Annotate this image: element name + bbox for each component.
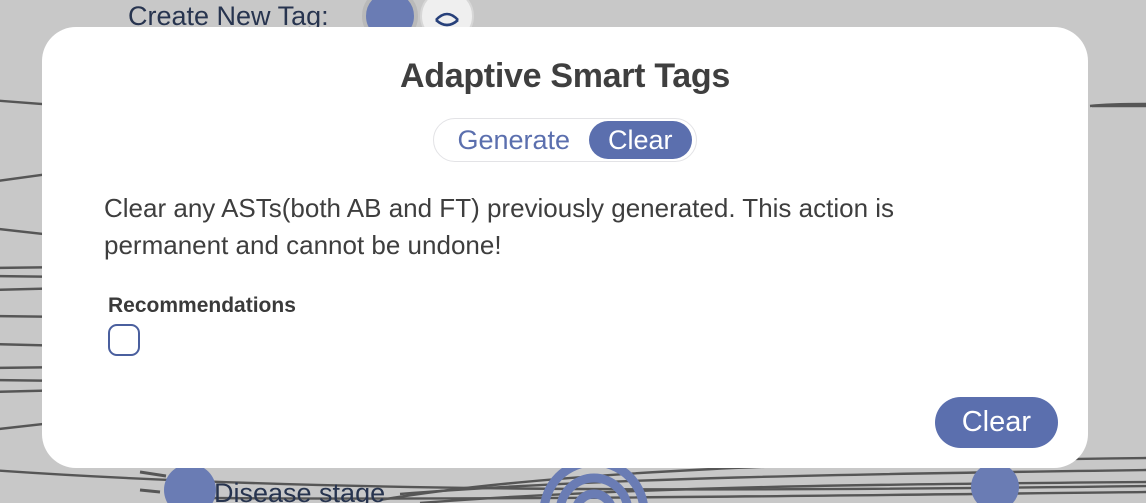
mode-segmented-control-wrapper: Generate Clear [42, 118, 1088, 162]
recommendations-checkbox[interactable] [108, 324, 140, 356]
concentric-node-icon [544, 462, 644, 503]
recommendations-section: Recommendations [108, 294, 1088, 356]
mode-segmented-control[interactable]: Generate Clear [433, 118, 696, 162]
recommendations-label: Recommendations [108, 294, 1088, 318]
tab-generate[interactable]: Generate [438, 121, 589, 159]
adaptive-smart-tags-dialog: Adaptive Smart Tags Generate Clear Clear… [42, 27, 1088, 468]
tab-clear[interactable]: Clear [589, 121, 692, 159]
background-disease-stage-label: Disease stage [214, 478, 385, 503]
dialog-description: Clear any ASTs(both AB and FT) previousl… [104, 190, 1024, 264]
dialog-title: Adaptive Smart Tags [42, 27, 1088, 96]
dialog-footer: Clear [935, 397, 1058, 448]
clear-confirm-button[interactable]: Clear [935, 397, 1058, 448]
